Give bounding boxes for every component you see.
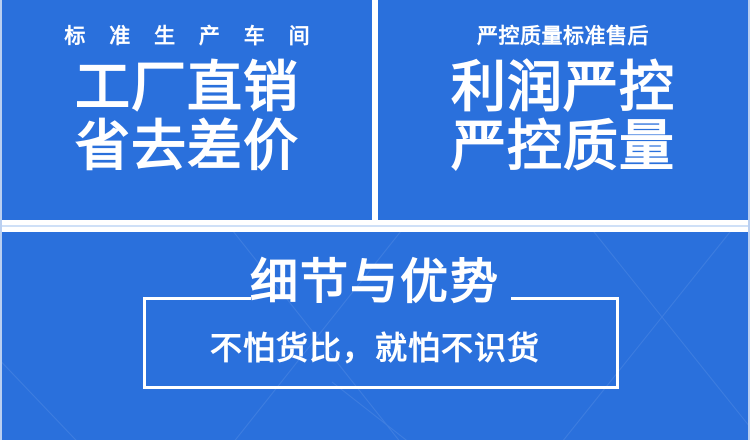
panel-right-eyebrow: 严控质量标准售后	[477, 26, 649, 47]
bottom-panel-title: 细节与优势	[2, 259, 748, 307]
panel-left-eyebrow: 标 准 生 产 车 间	[55, 26, 318, 47]
panel-left-headline-line2: 省去差价	[75, 118, 299, 175]
divider-hairline	[2, 225, 748, 227]
bottom-panel-subtitle: 不怕货比，就怕不识货	[2, 332, 748, 364]
panel-factory-direct: 标 准 生 产 车 间 工厂直销 省去差价	[2, 0, 372, 220]
top-panel-row: 标 准 生 产 车 间 工厂直销 省去差价 严控质量标准售后 利润严控 严控质量	[2, 0, 748, 220]
frame-bottom-bar	[143, 386, 619, 389]
panel-left-headline-line1: 工厂直销	[75, 59, 299, 116]
panel-quality-control: 严控质量标准售后 利润严控 严控质量	[378, 0, 748, 220]
panel-divider-gap	[2, 220, 748, 232]
panel-right-headline-line2: 严控质量	[451, 118, 675, 175]
panel-right-headline-line1: 利润严控	[451, 59, 675, 116]
panel-details-advantages: 细节与优势 不怕货比，就怕不识货	[2, 232, 748, 440]
promo-banner: 标 准 生 产 车 间 工厂直销 省去差价 严控质量标准售后 利润严控 严控质量	[0, 0, 750, 440]
